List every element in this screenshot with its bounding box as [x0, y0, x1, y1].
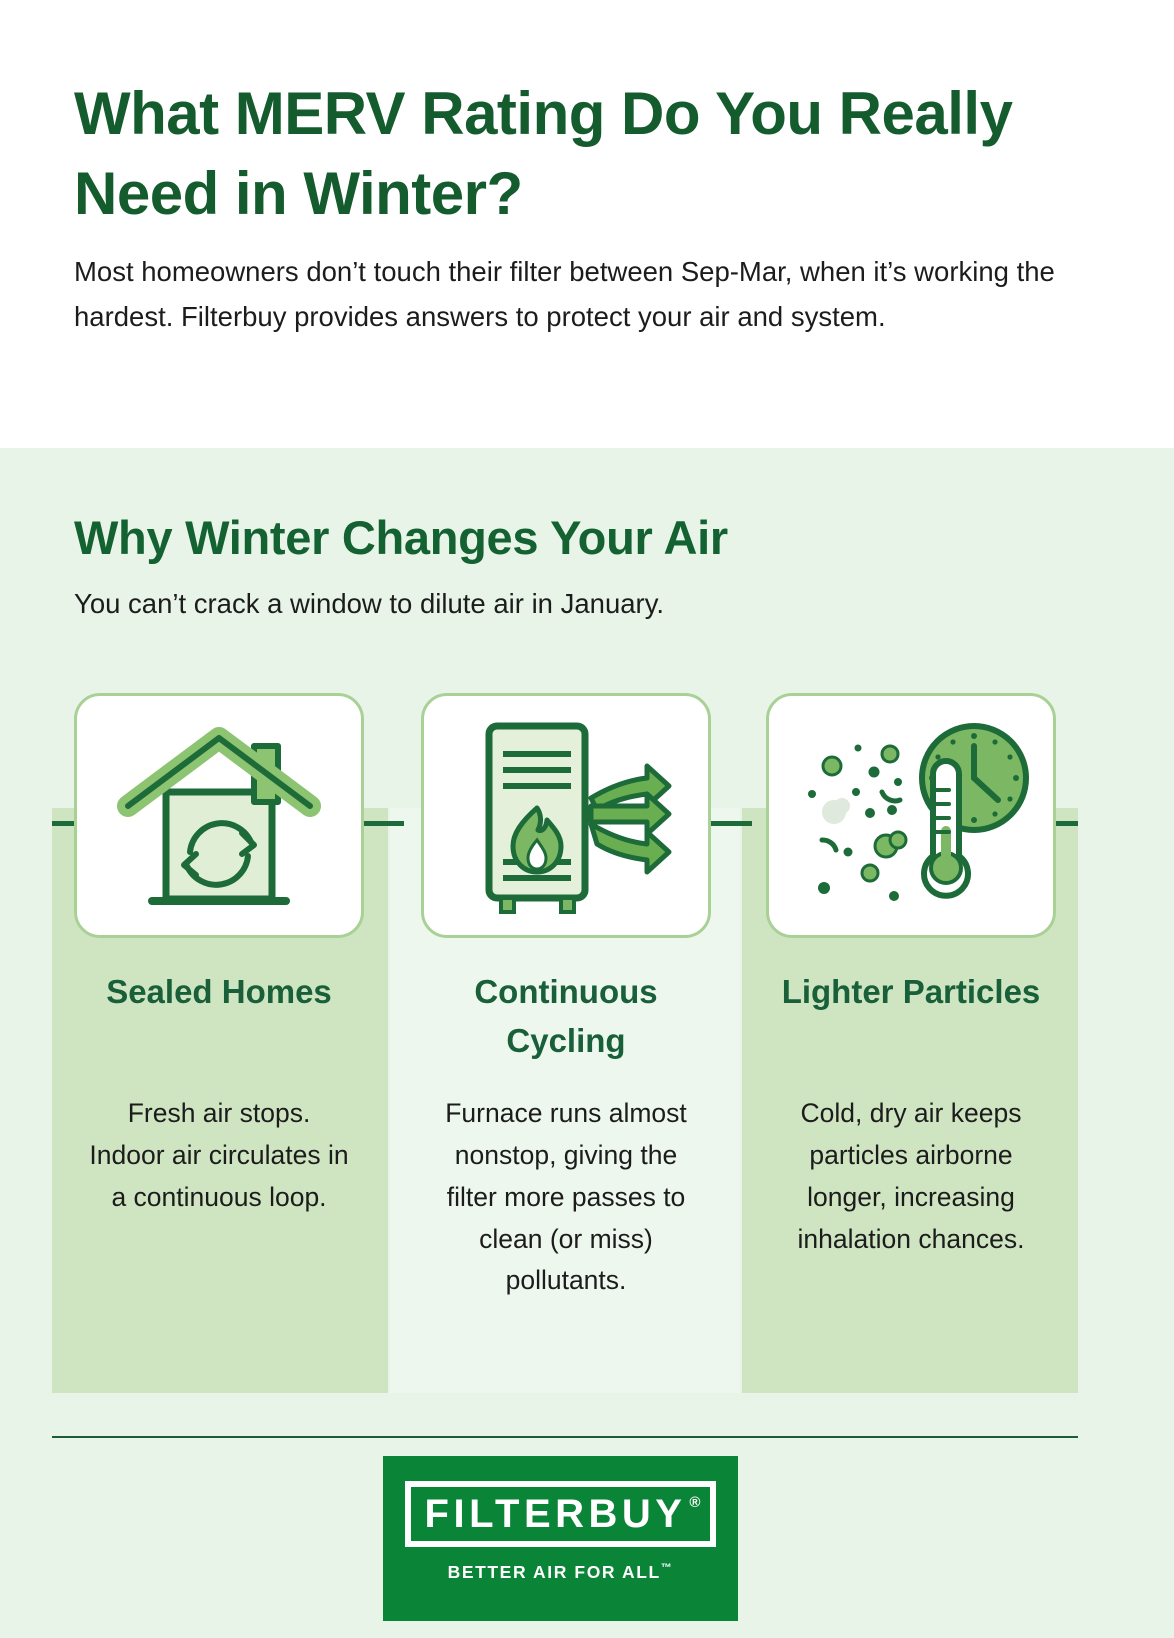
footer-section: FILTERBUY® BETTER AIR FOR ALL™: [0, 1438, 1174, 1638]
icon-card-sealed-homes: [74, 693, 364, 938]
section-subtitle: You can’t crack a window to dilute air i…: [74, 588, 1074, 620]
logo-tagline-label: BETTER AIR FOR ALL: [448, 1562, 661, 1582]
icon-card-lighter-particles: [766, 693, 1056, 938]
card-body-lighter-particles: Cold, dry air keeps particles airborne l…: [779, 1093, 1043, 1260]
trademark-icon: ™: [661, 1562, 674, 1574]
registered-trademark-icon: ®: [689, 1494, 700, 1511]
logo-wordmark-label: FILTERBUY: [425, 1492, 687, 1536]
house-air-circulation-icon: [104, 714, 334, 919]
card-body-sealed-homes: Fresh air stops. Indoor air circulates i…: [87, 1093, 351, 1219]
why-winter-section: Why Winter Changes Your Air You can’t cr…: [0, 448, 1174, 1438]
page-subtitle: Most homeowners don’t touch their filter…: [74, 250, 1064, 339]
header-section: What MERV Rating Do You Really Need in W…: [0, 0, 1174, 448]
section-title: Why Winter Changes Your Air: [74, 510, 1074, 565]
card-title-lighter-particles: Lighter Particles: [766, 968, 1056, 1017]
logo-wordmark-text: FILTERBUY®: [425, 1492, 697, 1537]
card-body-continuous-cycling: Furnace runs almost nonstop, giving the …: [434, 1093, 698, 1302]
page-title: What MERV Rating Do You Really Need in W…: [74, 74, 1084, 234]
card-title-continuous-cycling: Continuous Cycling: [421, 968, 711, 1066]
particles-thermometer-clock-icon: [786, 716, 1036, 916]
logo-tagline: BETTER AIR FOR ALL™: [383, 1562, 738, 1583]
filterbuy-logo[interactable]: FILTERBUY® BETTER AIR FOR ALL™: [383, 1456, 738, 1621]
card-title-sealed-homes: Sealed Homes: [74, 968, 364, 1017]
icon-card-continuous-cycling: [421, 693, 711, 938]
furnace-flame-airflow-icon: [451, 712, 681, 920]
logo-wordmark-frame: FILTERBUY®: [405, 1481, 716, 1547]
